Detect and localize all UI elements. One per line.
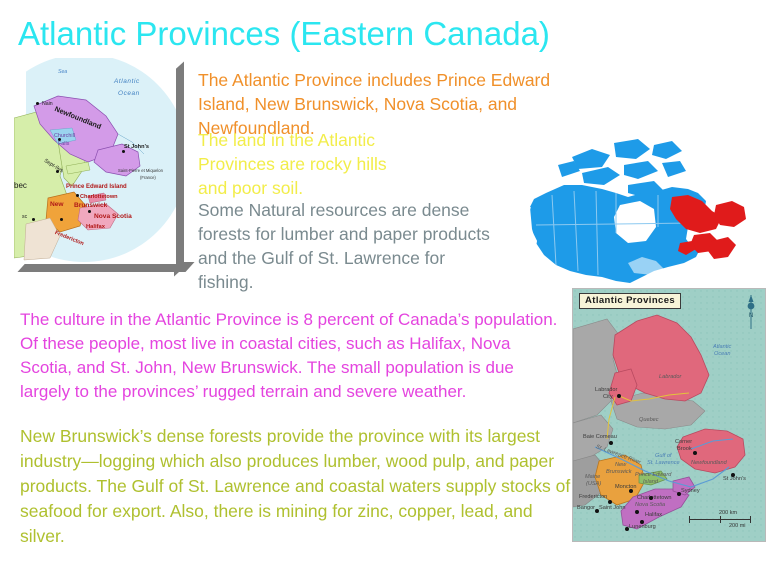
map-canada-highlight-image: [516, 135, 768, 295]
map-scale-bar: 200 km 200 mi: [689, 511, 757, 533]
map1-label-saint-pierre: Saint-Pierre et Miquelon: [118, 168, 163, 174]
paragraph-new-brunswick-industry: New Brunswick’s dense forests provide th…: [20, 424, 572, 549]
map-scale-mi: 200 mi: [729, 523, 746, 529]
ap-label-lunenburg: Lunenburg: [629, 524, 656, 531]
ap-city-dot: [635, 510, 639, 514]
ap-label-new: New: [615, 462, 626, 469]
map-atlantic-canada-svg: [14, 58, 176, 264]
ap-label-maine: Maine: [585, 474, 600, 481]
map1-city-dot: [76, 194, 79, 197]
ap-label-sydney: Sydney: [681, 488, 700, 495]
compass-icon: N: [746, 295, 756, 329]
map1-label-halifax: Halifax: [86, 224, 105, 230]
map1-label-nain: Nain: [42, 101, 53, 107]
ap-label-fredericton: Fredericton: [579, 494, 607, 501]
ap-label-nova-scotia: Nova Scotia: [635, 502, 665, 509]
paragraph-natural-resources: Some Natural resources are dense forests…: [198, 198, 498, 294]
map1-city-dot: [88, 210, 91, 213]
ap-label-ocean: Ocean: [714, 351, 730, 358]
map1-label-brunswick: Brunswick: [74, 203, 107, 209]
ap-city-dot: [617, 394, 621, 398]
ap-city-dot: [677, 492, 681, 496]
ap-city-dot: [608, 500, 612, 504]
map-atlantic-provinces-title: Atlantic Provinces: [579, 293, 681, 309]
map-atlantic-canada-canvas: Sea Atlantic Ocean Nain Newfoundland Chu…: [14, 58, 176, 264]
map1-label-atlantic: Atlantic: [114, 79, 140, 85]
map1-city-dot: [122, 150, 125, 153]
map-atlantic-provinces-svg: [573, 289, 765, 541]
paragraph-land: The land in the Atlantic Provinces are r…: [198, 128, 418, 200]
ap-label-city: City: [603, 394, 613, 401]
ap-city-dot: [731, 473, 735, 477]
ap-label-st-lawrence: St. Lawrence: [647, 460, 680, 467]
map1-label-sea: Sea: [58, 69, 67, 75]
map1-label-new: New: [50, 202, 64, 208]
ap-label-prince-edward: Prince Edward: [635, 472, 671, 479]
ap-label-bangor: Bangor: [577, 505, 595, 512]
map1-city-dot: [36, 102, 39, 105]
svg-text:N: N: [749, 313, 753, 319]
map-scale-km: 200 km: [719, 510, 737, 516]
ap-city-dot: [609, 441, 613, 445]
map1-label-quebec: bec: [14, 183, 27, 189]
page-title: Atlantic Provinces (Eastern Canada): [18, 14, 550, 54]
ap-label-baie-comeau: Baie Comeau: [583, 434, 617, 441]
ap-label-charlottetown: Charlottetown: [637, 495, 672, 502]
ap-label-halifax: Halifax: [645, 512, 662, 519]
map1-label-ocean: Ocean: [118, 91, 140, 97]
ap-label-quebec: Quebec: [639, 417, 659, 424]
ap-city-dot: [625, 527, 629, 531]
map1-label-france: (France): [140, 175, 156, 181]
ap-label-saint-john: Saint John: [599, 505, 625, 512]
map1-label-st-johns: St John’s: [124, 144, 149, 150]
ap-city-dot: [595, 509, 599, 513]
ap-city-dot: [693, 451, 697, 455]
ap-label-st-johns: St John’s: [723, 476, 746, 483]
map1-label-nova-scotia: Nova Scotia: [94, 214, 132, 220]
ap-city-dot: [649, 496, 653, 500]
ap-label-labrador: Labrador: [659, 374, 681, 381]
paragraph-culture: The culture in the Atlantic Province is …: [20, 308, 565, 404]
ap-label-brunswick: Brunswick: [606, 469, 632, 476]
ap-label-gulf-of: Gulf of: [655, 453, 671, 460]
ap-label-usa: (USA): [586, 481, 601, 488]
ap-city-dot: [640, 520, 644, 524]
ap-label-labrador-city: Labrador: [595, 387, 617, 394]
ap-label-corner: Corner: [675, 439, 692, 446]
ap-city-dot: [629, 489, 633, 493]
map1-label-pei: Prince Edward Island: [66, 184, 127, 190]
ap-label-atlantic: Atlantic: [713, 344, 731, 351]
ap-label-newfoundland: Newfoundland: [691, 460, 727, 467]
map1-city-dot: [32, 218, 35, 221]
map1-city-dot: [58, 138, 61, 141]
map1-city-dot: [56, 170, 59, 173]
map1-city-dot: [60, 218, 63, 221]
ap-label-moncton: Moncton: [615, 484, 636, 491]
map-atlantic-canada-image: Sea Atlantic Ocean Nain Newfoundland Chu…: [14, 58, 182, 270]
ap-label-brook: Brook: [677, 446, 692, 453]
map-atlantic-provinces-image: Atlantic Provinces N 200 km 200 mi Atlan…: [572, 288, 766, 542]
map1-label-falls: Falls: [58, 141, 69, 147]
map1-label-sc: sc: [22, 214, 27, 220]
map1-label-charlottetown: Charlottetown: [80, 194, 118, 200]
map-canada-highlight-svg: [516, 135, 768, 295]
ap-label-island: Island: [643, 479, 658, 486]
